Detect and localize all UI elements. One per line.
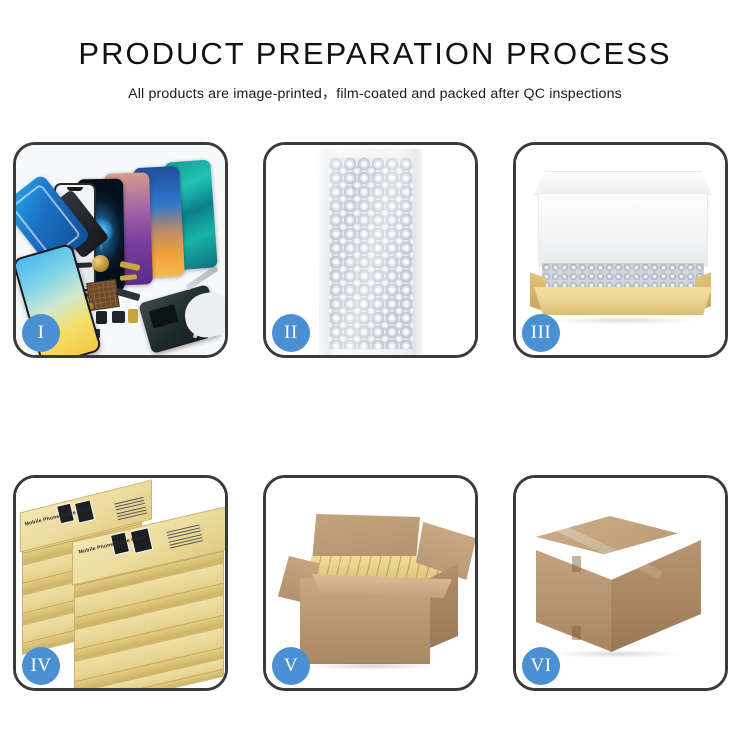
small-component-icon [112, 311, 125, 323]
process-step-2: II [263, 142, 478, 358]
process-step-6: VI [513, 475, 728, 691]
box-lid-icon [534, 171, 712, 195]
page-title: PRODUCT PREPARATION PROCESS [0, 0, 750, 72]
step-badge-6: VI [522, 647, 560, 685]
step-badge-5: V [272, 647, 310, 685]
carton-shadow [550, 650, 682, 658]
process-step-5: V [263, 475, 478, 691]
small-component-icon [128, 309, 138, 323]
white-foam-sheet-icon [538, 193, 708, 267]
carton-seam [572, 556, 581, 572]
process-step-1: I [13, 142, 228, 358]
step-badge-2: II [272, 314, 310, 352]
carton-shadow [310, 662, 434, 670]
small-component-icon [96, 311, 107, 324]
flex-cable-part-icon [116, 288, 141, 301]
step-badge-1: I [22, 314, 60, 352]
kraft-box-front-icon [534, 287, 712, 315]
plastic-sheen [319, 149, 423, 355]
bubble-wrapped-product-icon [542, 263, 704, 291]
page-header: PRODUCT PREPARATION PROCESS All products… [0, 0, 750, 103]
step-badge-3: III [522, 314, 560, 352]
carton-seam [572, 626, 581, 640]
bubble-wrap-pouch-icon [319, 149, 423, 355]
step-badge-4: IV [22, 647, 60, 685]
speaker-coil-part-icon [92, 255, 109, 272]
process-step-4: Mobile Phone Spare Parts Mobile Phone Sp… [13, 475, 228, 691]
process-steps-grid: I II III [13, 142, 737, 690]
carton-right-side [430, 564, 458, 648]
process-step-3: III [513, 142, 728, 358]
page-subtitle: All products are image-printed，film-coat… [0, 72, 750, 103]
box-shadow [548, 317, 698, 324]
